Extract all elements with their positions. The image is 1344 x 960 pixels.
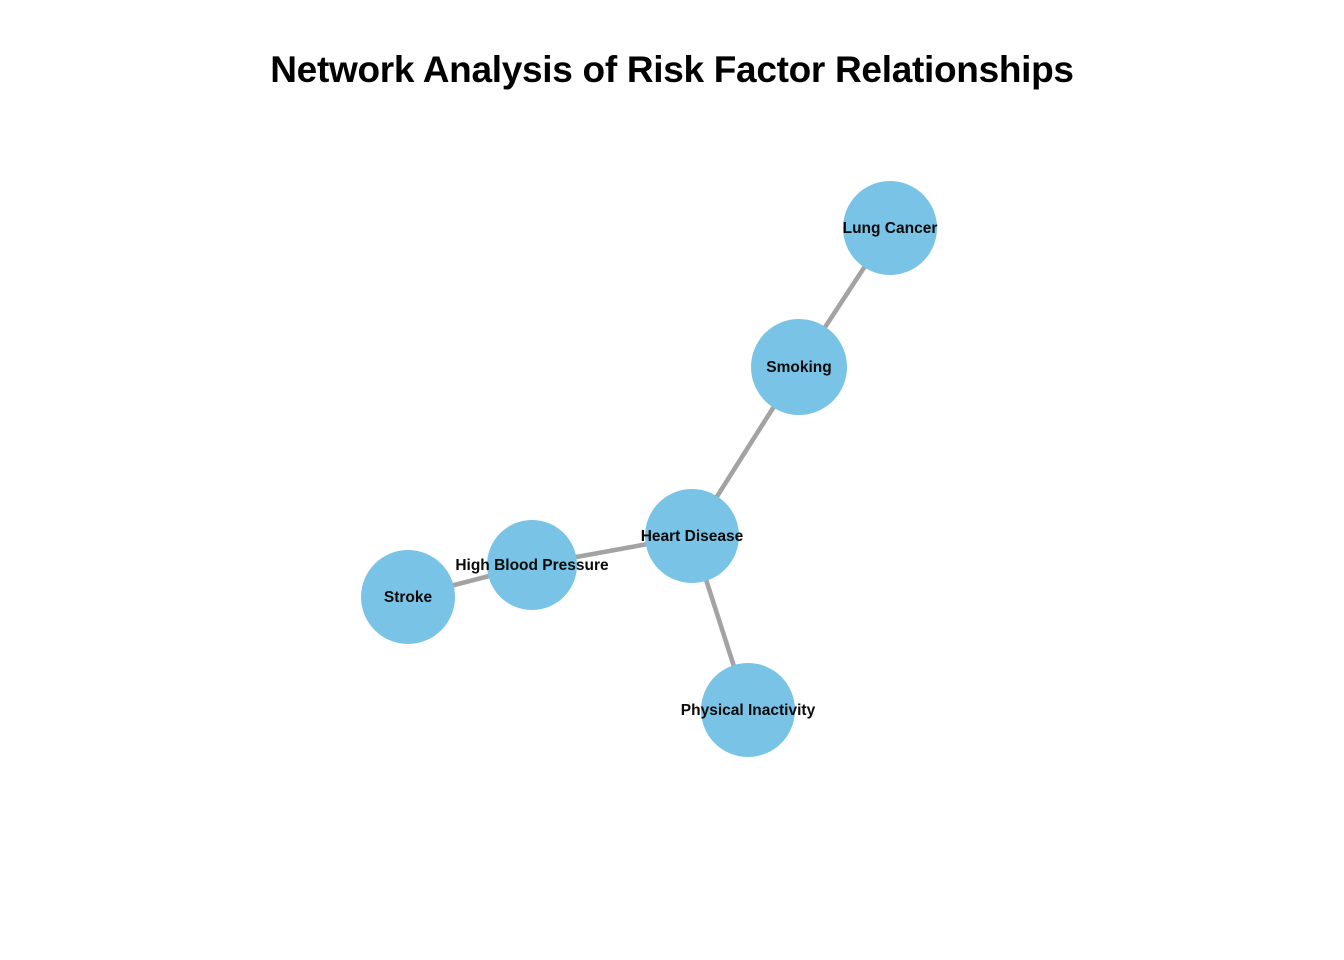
graph-node-heart-disease[interactable]: Heart Disease (641, 489, 744, 583)
edges-group (408, 228, 890, 710)
node-label: Physical Inactivity (681, 702, 816, 719)
graph-node-high-blood-pressure[interactable]: High Blood Pressure (455, 520, 609, 610)
network-graph-canvas: Lung CancerSmokingHeart DiseaseHigh Bloo… (0, 0, 1344, 960)
network-figure: Network Analysis of Risk Factor Relation… (0, 0, 1344, 960)
node-label: Stroke (384, 589, 433, 606)
node-label: Smoking (766, 359, 831, 376)
graph-node-stroke[interactable]: Stroke (361, 550, 455, 644)
node-label: High Blood Pressure (455, 557, 609, 574)
graph-node-smoking[interactable]: Smoking (751, 319, 847, 415)
graph-node-lung-cancer[interactable]: Lung Cancer (843, 181, 938, 275)
nodes-group: Lung CancerSmokingHeart DiseaseHigh Bloo… (361, 181, 937, 757)
graph-node-physical-inactivity[interactable]: Physical Inactivity (681, 663, 816, 757)
node-label: Heart Disease (641, 528, 744, 545)
node-label: Lung Cancer (843, 220, 938, 237)
